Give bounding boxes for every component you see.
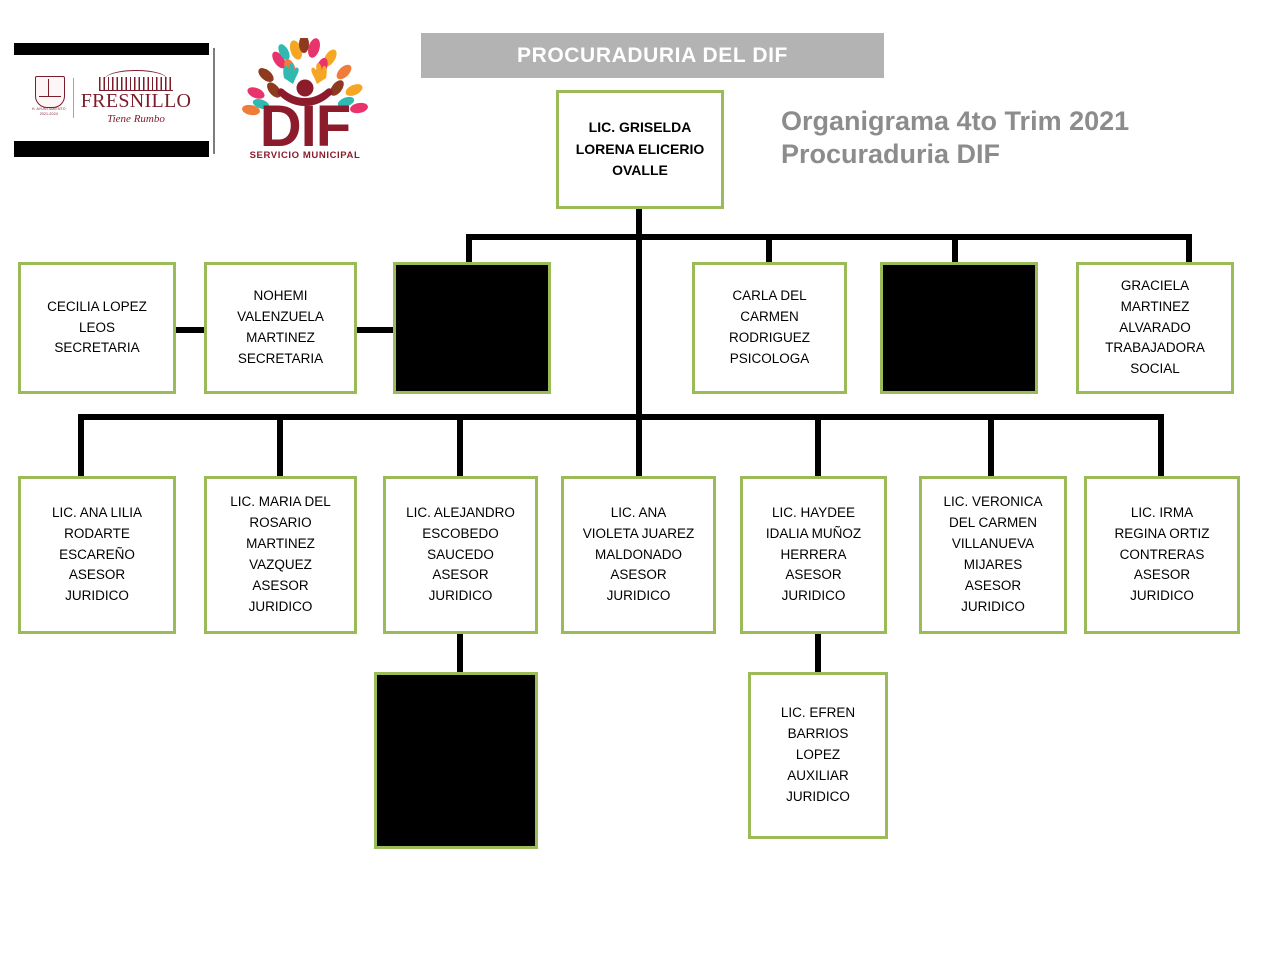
org-node-line: VIOLETA JUAREZ bbox=[583, 524, 695, 545]
aqueduct-icon bbox=[97, 70, 175, 90]
connector-drop-l2-6 bbox=[1186, 234, 1192, 262]
connector-drop-l3-3 bbox=[457, 414, 463, 476]
org-node-l4-2[interactable]: LIC. EFREN BARRIOS LOPEZ AUXILIAR JURIDI… bbox=[748, 672, 888, 839]
org-node-line: JURIDICO bbox=[230, 597, 331, 618]
org-node-line: ASESOR bbox=[943, 576, 1042, 597]
org-node-l3-2[interactable]: LIC. MARIA DEL ROSARIO MARTINEZ VAZQUEZ … bbox=[204, 476, 357, 634]
org-node-line: TRABAJADORA bbox=[1105, 338, 1205, 359]
banner-title: PROCURADURIA DEL DIF bbox=[517, 44, 788, 68]
connector-drop-l3-7 bbox=[1158, 414, 1164, 476]
org-node-line: LIC. ANA bbox=[583, 503, 695, 524]
connector-drop-l3-2 bbox=[277, 414, 283, 476]
org-node-l3-7[interactable]: LIC. IRMA REGINA ORTIZ CONTRERAS ASESOR … bbox=[1084, 476, 1240, 634]
org-node-line: DEL CARMEN bbox=[943, 513, 1042, 534]
org-node-line: LIC. VERONICA bbox=[943, 492, 1042, 513]
org-node-line: AUXILIAR bbox=[781, 766, 855, 787]
org-node-line: LIC. ALEJANDRO bbox=[406, 503, 515, 524]
fresnillo-tagline: Tiene Rumbo bbox=[107, 113, 165, 125]
connector-drop-l4-2 bbox=[815, 634, 821, 672]
org-node-line: LIC. ANA LILIA bbox=[52, 503, 142, 524]
dif-logo: DIF SERVICIO MUNICIPAL bbox=[234, 38, 376, 166]
org-node-line: JURIDICO bbox=[583, 586, 695, 607]
connector-level2-bus bbox=[466, 234, 1192, 240]
connector-l2-2-to-l2-3 bbox=[356, 327, 394, 333]
org-node-root[interactable]: LIC. GRISELDA LORENA ELICERIO OVALLE bbox=[556, 90, 724, 209]
connector-drop-l2-4 bbox=[766, 234, 772, 262]
org-node-line: JURIDICO bbox=[52, 586, 142, 607]
connector-level3-bus bbox=[78, 414, 1164, 420]
org-node-line: VALENZUELA bbox=[237, 307, 324, 328]
org-node-line: LIC. HAYDEE bbox=[766, 503, 861, 524]
org-node-line: SECRETARIA bbox=[237, 349, 324, 370]
fresnillo-name: FRESNILLO bbox=[81, 91, 191, 111]
org-node-line: CONTRERAS bbox=[1114, 545, 1209, 566]
connector-drop-l2-5 bbox=[952, 234, 958, 262]
org-node-l3-4[interactable]: LIC. ANA VIOLETA JUAREZ MALDONADO ASESOR… bbox=[561, 476, 716, 634]
page-title: Organigrama 4to Trim 2021 Procuraduria D… bbox=[781, 105, 1251, 171]
org-node-line: GRACIELA bbox=[1105, 276, 1205, 297]
dif-subtitle: SERVICIO MUNICIPAL bbox=[250, 150, 361, 161]
org-node-l2-5-redacted[interactable] bbox=[880, 262, 1038, 394]
org-node-line: LIC. IRMA bbox=[1114, 503, 1209, 524]
page-title-line1: Organigrama 4to Trim 2021 bbox=[781, 105, 1251, 138]
org-node-line: ASESOR bbox=[52, 565, 142, 586]
crest-line2: 2021-2024 bbox=[32, 112, 66, 117]
fresnillo-logo-plate: H. AYUNTAMIENTO 2021-2024 FRESNILLO Tien… bbox=[14, 55, 209, 141]
org-node-line: MIJARES bbox=[943, 555, 1042, 576]
org-node-line: SAUCEDO bbox=[406, 545, 515, 566]
org-node-line: ROSARIO bbox=[230, 513, 331, 534]
org-node-line: LORENA ELICERIO bbox=[576, 139, 705, 161]
connector-l2-1-to-l2-2 bbox=[176, 327, 205, 333]
org-chart-canvas: H. AYUNTAMIENTO 2021-2024 FRESNILLO Tien… bbox=[0, 0, 1280, 960]
org-node-line: JURIDICO bbox=[1114, 586, 1209, 607]
connector-root-stem bbox=[636, 209, 642, 237]
org-node-l2-2[interactable]: NOHEMI VALENZUELA MARTINEZ SECRETARIA bbox=[204, 262, 357, 394]
org-node-line: BARRIOS bbox=[781, 724, 855, 745]
org-node-line: LIC. MARIA DEL bbox=[230, 492, 331, 513]
connector-drop-l3-4 bbox=[636, 414, 642, 476]
org-node-line: PSICOLOGA bbox=[729, 349, 810, 370]
fresnillo-logo: H. AYUNTAMIENTO 2021-2024 FRESNILLO Tien… bbox=[14, 43, 209, 157]
org-node-line: VAZQUEZ bbox=[230, 555, 331, 576]
org-node-line: CARLA DEL bbox=[729, 286, 810, 307]
org-node-line: JURIDICO bbox=[406, 586, 515, 607]
org-node-l2-6[interactable]: GRACIELA MARTINEZ ALVARADO TRABAJADORA S… bbox=[1076, 262, 1234, 394]
connector-drop-l3-5 bbox=[815, 414, 821, 476]
org-node-l3-3[interactable]: LIC. ALEJANDRO ESCOBEDO SAUCEDO ASESOR J… bbox=[383, 476, 538, 634]
org-node-line: RODARTE bbox=[52, 524, 142, 545]
org-node-line: MARTINEZ bbox=[237, 328, 324, 349]
org-node-line: LIC. GRISELDA bbox=[576, 117, 705, 139]
org-node-l3-6[interactable]: LIC. VERONICA DEL CARMEN VILLANUEVA MIJA… bbox=[919, 476, 1067, 634]
org-node-line: NOHEMI bbox=[237, 286, 324, 307]
org-node-line: IDALIA MUÑOZ bbox=[766, 524, 861, 545]
org-node-line: JURIDICO bbox=[943, 597, 1042, 618]
org-node-line: MARTINEZ bbox=[1105, 297, 1205, 318]
org-node-l2-4[interactable]: CARLA DEL CARMEN RODRIGUEZ PSICOLOGA bbox=[692, 262, 847, 394]
org-node-line: MALDONADO bbox=[583, 545, 695, 566]
org-node-line: REGINA ORTIZ bbox=[1114, 524, 1209, 545]
org-node-line: ESCOBEDO bbox=[406, 524, 515, 545]
org-node-l3-1[interactable]: LIC. ANA LILIA RODARTE ESCAREÑO ASESOR J… bbox=[18, 476, 176, 634]
page-banner: PROCURADURIA DEL DIF bbox=[421, 33, 884, 78]
org-node-line: OVALLE bbox=[576, 160, 705, 182]
crest-divider bbox=[73, 78, 74, 118]
org-node-line: LOPEZ bbox=[781, 745, 855, 766]
org-node-l3-5[interactable]: LIC. HAYDEE IDALIA MUÑOZ HERRERA ASESOR … bbox=[740, 476, 887, 634]
org-node-line: RODRIGUEZ bbox=[729, 328, 810, 349]
fresnillo-wordmark: FRESNILLO Tiene Rumbo bbox=[81, 70, 191, 125]
org-node-line: ASESOR bbox=[1114, 565, 1209, 586]
org-node-line: SECRETARIA bbox=[47, 338, 147, 359]
connector-drop-l3-1 bbox=[78, 414, 84, 476]
org-node-line: ASESOR bbox=[766, 565, 861, 586]
org-node-line: ALVARADO bbox=[1105, 318, 1205, 339]
org-node-line: SOCIAL bbox=[1105, 359, 1205, 380]
connector-drop-l4-1 bbox=[457, 634, 463, 672]
connector-drop-l3-6 bbox=[988, 414, 994, 476]
page-title-line2: Procuraduria DIF bbox=[781, 138, 1251, 171]
org-node-l4-1-redacted[interactable] bbox=[374, 672, 538, 849]
org-node-l2-3-redacted[interactable] bbox=[393, 262, 551, 394]
org-node-l2-1[interactable]: CECILIA LOPEZ LEOS SECRETARIA bbox=[18, 262, 176, 394]
org-node-line: CECILIA LOPEZ bbox=[47, 297, 147, 318]
org-node-line: ASESOR bbox=[230, 576, 331, 597]
connector-drop-l2-3 bbox=[466, 234, 472, 262]
logo-divider bbox=[213, 48, 215, 154]
org-node-line: VILLANUEVA bbox=[943, 534, 1042, 555]
org-node-line: LIC. EFREN bbox=[781, 703, 855, 724]
fresnillo-crest-icon: H. AYUNTAMIENTO 2021-2024 bbox=[32, 76, 66, 120]
org-node-line: ESCAREÑO bbox=[52, 545, 142, 566]
org-node-line: ASESOR bbox=[583, 565, 695, 586]
org-node-line: CARMEN bbox=[729, 307, 810, 328]
org-node-line: LEOS bbox=[47, 318, 147, 339]
org-node-line: HERRERA bbox=[766, 545, 861, 566]
connector-root-through bbox=[636, 237, 642, 417]
org-node-line: JURIDICO bbox=[781, 787, 855, 808]
org-node-line: MARTINEZ bbox=[230, 534, 331, 555]
org-node-line: JURIDICO bbox=[766, 586, 861, 607]
org-node-line: ASESOR bbox=[406, 565, 515, 586]
